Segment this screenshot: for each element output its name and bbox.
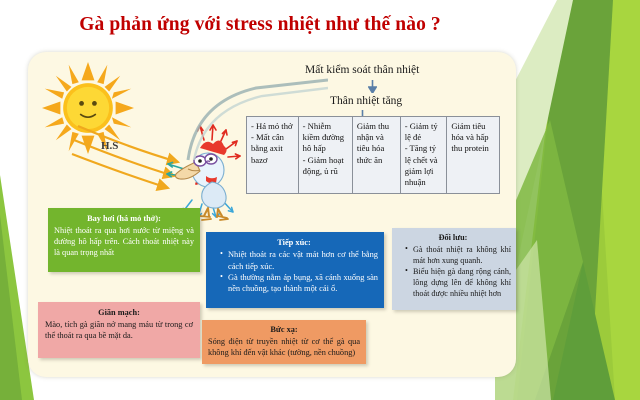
background-decoration-right <box>495 0 640 400</box>
heat-source-label: H.S <box>101 140 118 152</box>
table-cell-3: Giảm thu nhận và tiêu hóa thức ăn <box>353 117 401 193</box>
table-cell-5: Giảm tiêu hóa và hấp thu protein <box>447 117 499 193</box>
box-doi-luu-title: Đối lưu: <box>395 233 511 244</box>
list-item: Nhiệt thoát ra các vật mát hơn cơ thể bằ… <box>220 249 378 272</box>
box-gian-mach: Giãn mạch: Mào, tích gà giãn nở mang máu… <box>38 302 200 358</box>
box-buc-xa: Bức xạ: Sóng điện từ truyền nhiệt từ cơ … <box>202 320 366 364</box>
box-bay-hoi: Bay hơi (há mỏ thở): Nhiệt thoát ra qua … <box>48 208 200 272</box>
box-buc-xa-text: Sóng điện từ truyền nhiệt từ cơ thể gà q… <box>208 336 360 358</box>
box-bay-hoi-title: Bay hơi (há mỏ thở): <box>54 213 194 224</box>
list-item: Gà thoát nhiệt ra không khí mát hơn xung… <box>405 245 511 267</box>
flow-step-2: Thân nhiệt tăng <box>330 95 402 107</box>
flow-step-1: Mất kiểm soát thân nhiệt <box>305 64 419 76</box>
list-item: Biểu hiện gà dang rộng cánh, lông dựng l… <box>405 267 511 300</box>
list-item: Gà thường nằm áp bụng, xã cánh xuống sàn… <box>220 272 378 295</box>
flow-arrow-down-1 <box>368 80 377 93</box>
table-cell-4: - Giảm tỷ lệ đẻ - Tăng tỷ lệ chết và giả… <box>401 117 448 193</box>
page-title: Gà phản ứng với stress nhiệt như thế nào… <box>0 14 520 36</box>
box-gian-mach-text: Mào, tích gà giãn nở mang máu từ trong c… <box>45 319 193 341</box>
slide-canvas: Gà phản ứng với stress nhiệt như thế nào… <box>0 0 640 400</box>
box-doi-luu-list: Gà thoát nhiệt ra không khí mát hơn xung… <box>395 245 511 300</box>
effects-table: - Há mỏ thở - Mất cân bằng axit bazơ - N… <box>246 116 500 194</box>
box-bay-hoi-text: Nhiệt thoát ra qua hơi nước từ miệng và … <box>54 225 194 258</box>
box-gian-mach-title: Giãn mạch: <box>45 307 193 318</box>
box-tiep-xuc-list: Nhiệt thoát ra các vật mát hơn cơ thể bằ… <box>210 249 378 294</box>
table-cell-2: - Nhiễm kiềm đường hô hấp - Giảm hoạt độ… <box>299 117 353 193</box>
box-buc-xa-title: Bức xạ: <box>208 324 360 335</box>
table-cell-1: - Há mỏ thở - Mất cân bằng axit bazơ <box>247 117 299 193</box>
box-tiep-xuc-title: Tiếp xúc: <box>210 237 378 248</box>
box-doi-luu: Đối lưu: Gà thoát nhiệt ra không khí mát… <box>392 228 516 310</box>
box-tiep-xuc: Tiếp xúc: Nhiệt thoát ra các vật mát hơn… <box>206 232 384 308</box>
